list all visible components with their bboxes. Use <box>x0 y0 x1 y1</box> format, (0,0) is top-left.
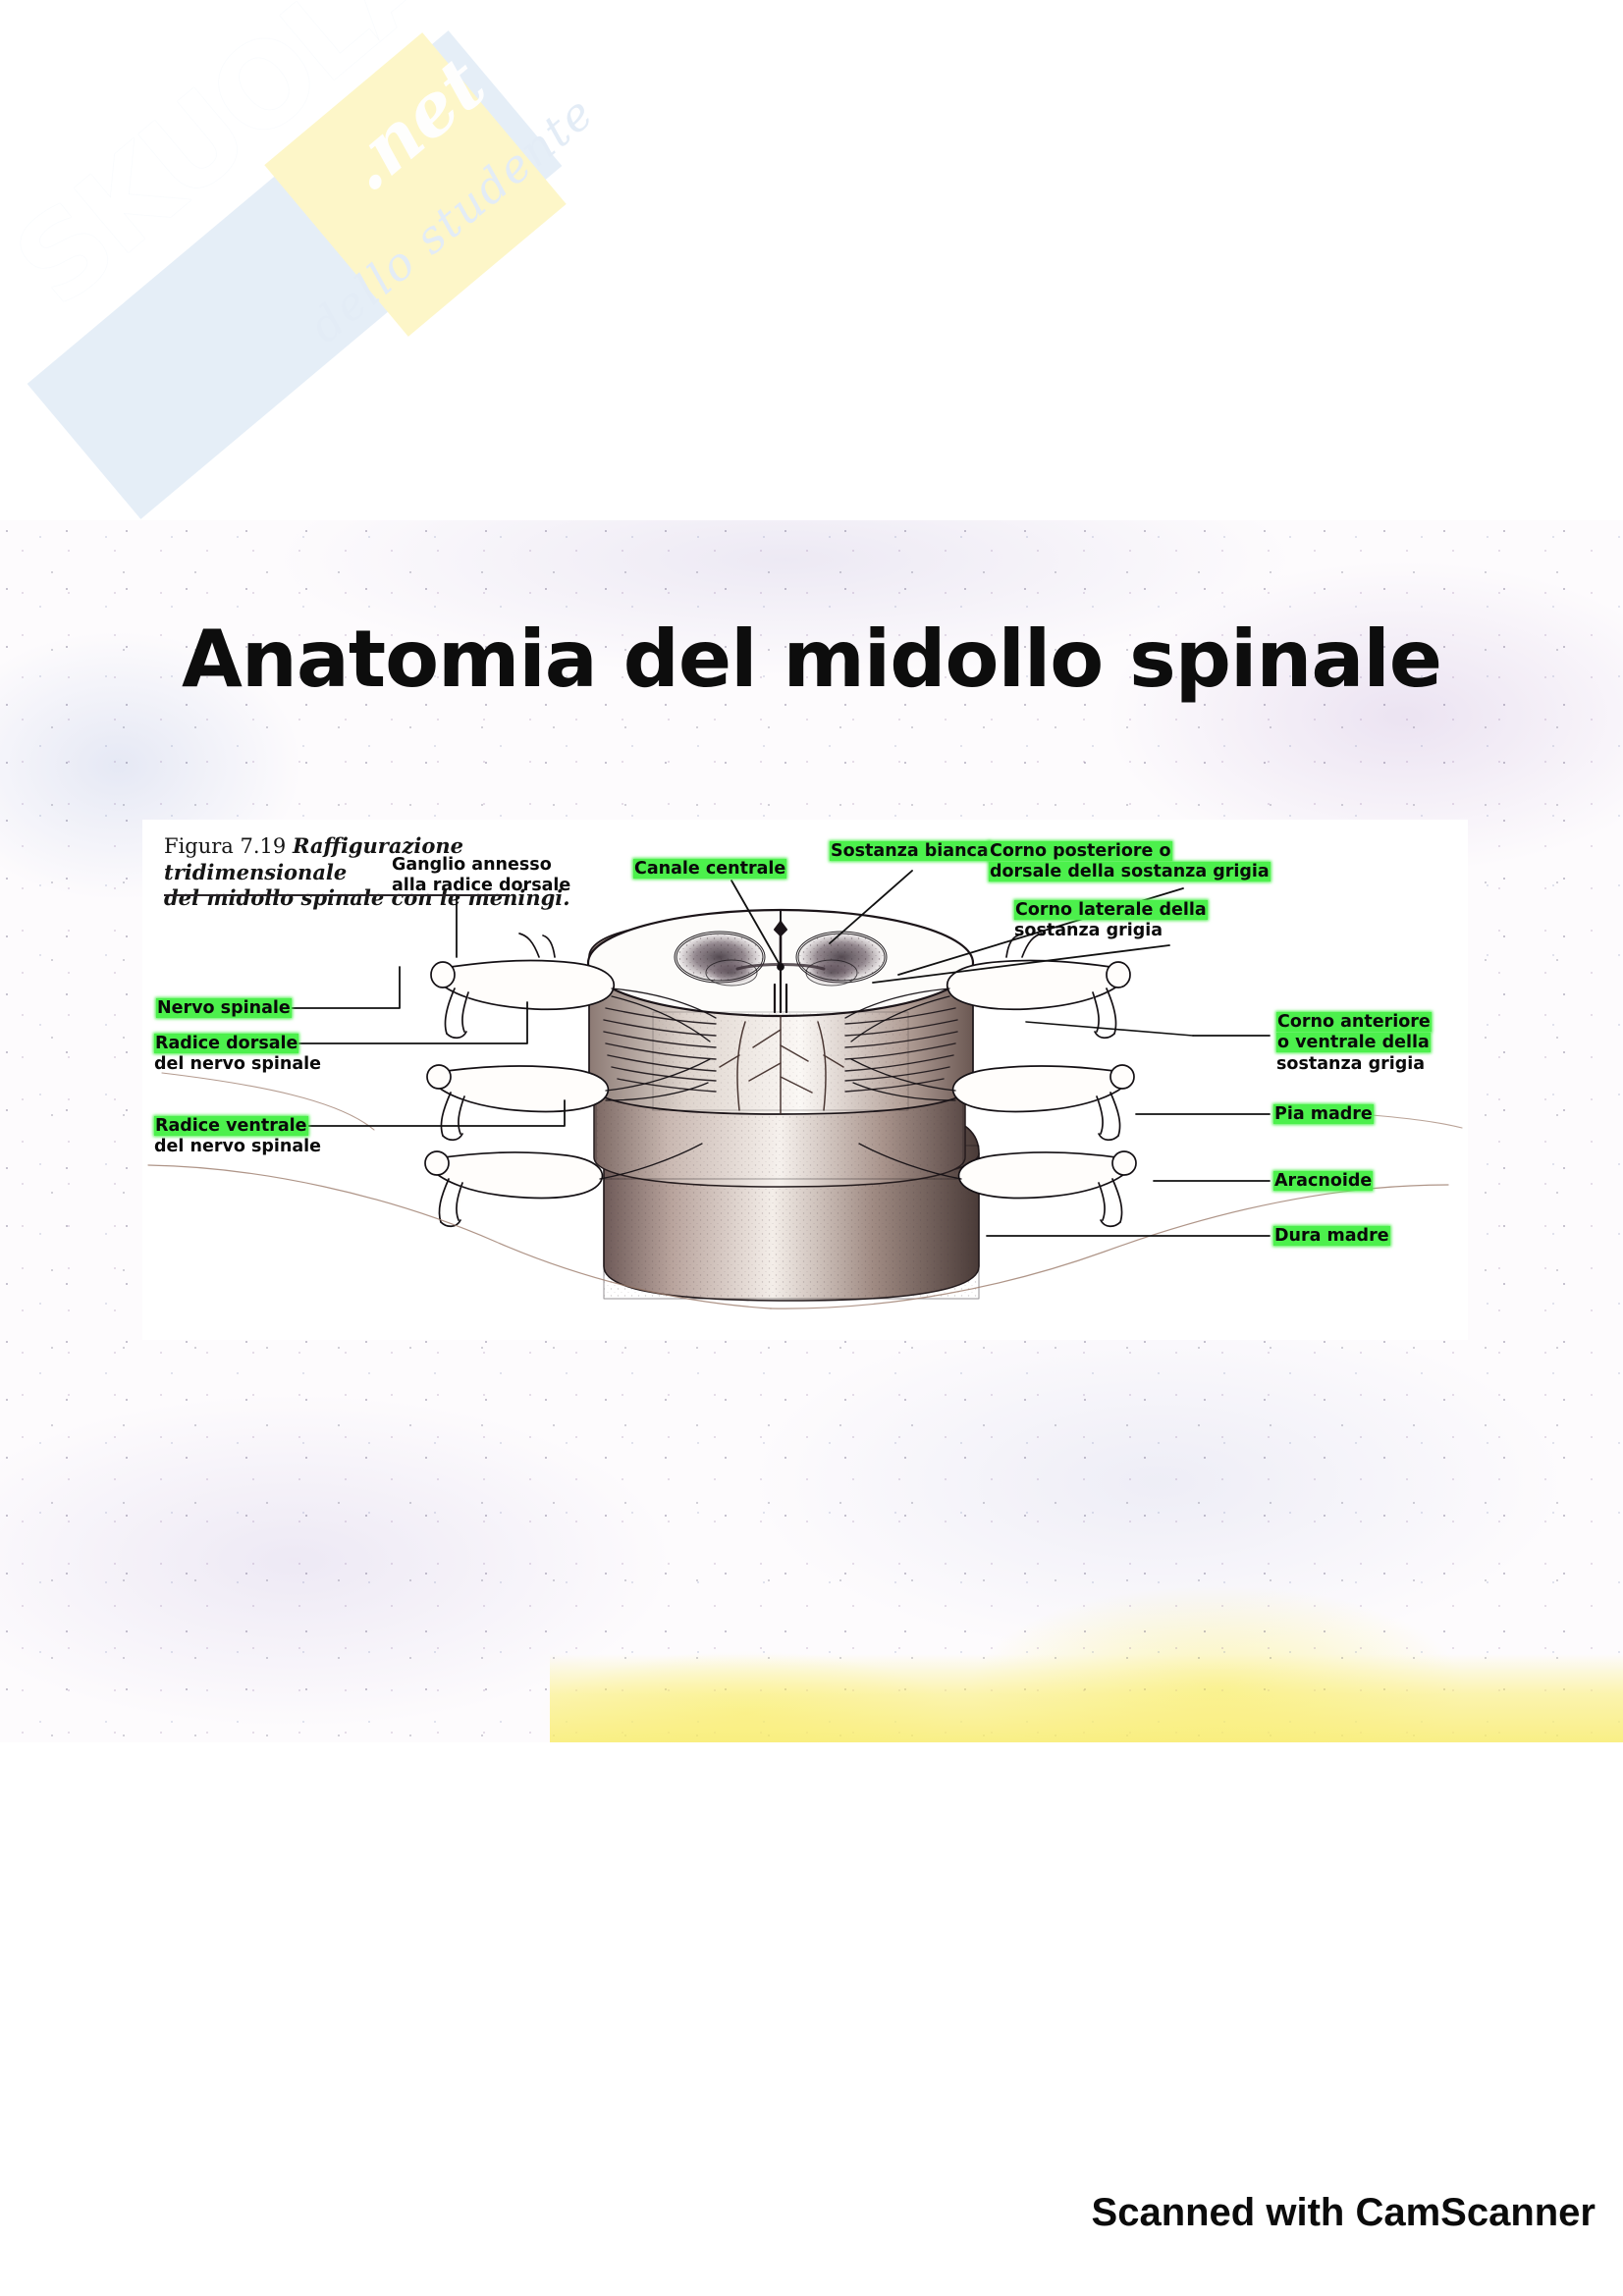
label-corno-posteriore-dorsale: Corno posteriore o dorsale della sostanz… <box>989 841 1271 883</box>
camscanner-footer: Scanned with CamScanner <box>1092 2191 1596 2235</box>
figure-panel: Figura 7.19 Raffigurazione tridimensiona… <box>142 820 1468 1340</box>
label-line-1: Aracnoide <box>1273 1171 1373 1191</box>
label-line-1: Nervo spinale <box>156 998 292 1018</box>
label-dura-madre: Dura madre <box>1273 1226 1390 1247</box>
label-radice-dorsale: Radice dorsale del nervo spinale <box>154 1034 321 1076</box>
label-corno-anteriore-ventrale: Corno anteriore o ventrale della sostanz… <box>1276 1012 1432 1075</box>
watermark-blue-band <box>27 30 563 519</box>
label-line-2: del nervo spinale <box>154 1054 321 1074</box>
spinal-cord-illustration <box>142 820 1468 1340</box>
watermark-tld-text: .net <box>326 42 501 208</box>
label-line-2: o ventrale della <box>1276 1033 1431 1052</box>
label-line-1: Corno anteriore <box>1276 1012 1432 1032</box>
label-line-1: Dura madre <box>1273 1226 1390 1246</box>
label-line-3: sostanza grigia <box>1276 1054 1425 1074</box>
label-line-1: Radice ventrale <box>154 1116 308 1136</box>
label-aracnoide: Aracnoide <box>1273 1171 1373 1192</box>
page-title: Anatomia del midollo spinale <box>0 614 1623 705</box>
label-nervo-spinale: Nervo spinale <box>156 998 292 1019</box>
label-line-2: sostanza grigia <box>1014 921 1163 940</box>
label-sostanza-bianca: Sostanza bianca <box>830 841 990 862</box>
scanned-page-area: Anatomia del midollo spinale Figura 7.19… <box>0 520 1623 1742</box>
label-line-2: dorsale della sostanza grigia <box>989 862 1271 881</box>
label-line-1: Canale centrale <box>633 859 786 879</box>
label-pia-madre: Pia madre <box>1273 1104 1374 1125</box>
yellow-highlighter-smear <box>550 1654 1623 1742</box>
skuola-watermark: SKUOLA .net dello studente <box>59 39 668 452</box>
label-line-2: alla radice dorsale <box>392 876 570 895</box>
label-line-2: del nervo spinale <box>154 1137 321 1156</box>
label-line-1: Pia madre <box>1273 1104 1374 1124</box>
label-ganglio-annesso-radice-dorsale: Ganglio annesso alla radice dorsale <box>392 855 570 897</box>
label-line-1: Radice dorsale <box>154 1034 298 1053</box>
label-line-1: Ganglio annesso <box>392 855 552 875</box>
label-line-1: Corno posteriore o <box>989 841 1172 861</box>
label-line-1: Corno laterale della <box>1014 900 1208 920</box>
label-canale-centrale: Canale centrale <box>633 859 786 880</box>
watermark-yellow-patch <box>264 32 566 337</box>
label-line-1: Sostanza bianca <box>830 841 990 861</box>
watermark-tagline-text: dello studente <box>299 85 605 353</box>
label-radice-ventrale: Radice ventrale del nervo spinale <box>154 1116 321 1158</box>
label-corno-laterale: Corno laterale della sostanza grigia <box>1014 900 1208 942</box>
watermark-brand-text: SKUOLA <box>0 0 462 332</box>
